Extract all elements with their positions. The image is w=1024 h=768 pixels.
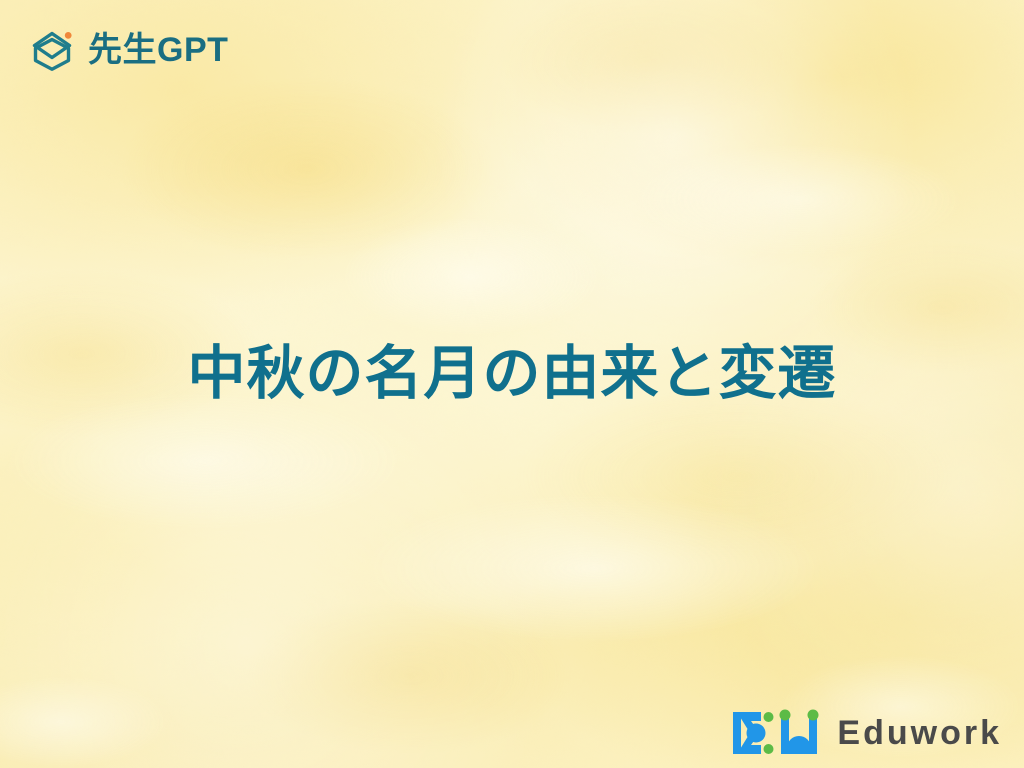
slide-title-container: 中秋の名月の由来と変遷 [0, 340, 1024, 408]
presentation-slide: 先生GPT 中秋の名月の由来と変遷 Eduwork [0, 0, 1024, 768]
page-title: 中秋の名月の由来と変遷 [0, 340, 1024, 408]
brand-logo[interactable]: 先生GPT [28, 26, 228, 74]
eduwork-name-label: Eduwork [837, 716, 1002, 750]
graduation-cap-logo-icon [28, 26, 76, 74]
eduwork-logo-icon [731, 708, 823, 758]
eduwork-footer-logo[interactable]: Eduwork [731, 708, 1002, 758]
brand-name-label: 先生GPT [88, 33, 228, 67]
